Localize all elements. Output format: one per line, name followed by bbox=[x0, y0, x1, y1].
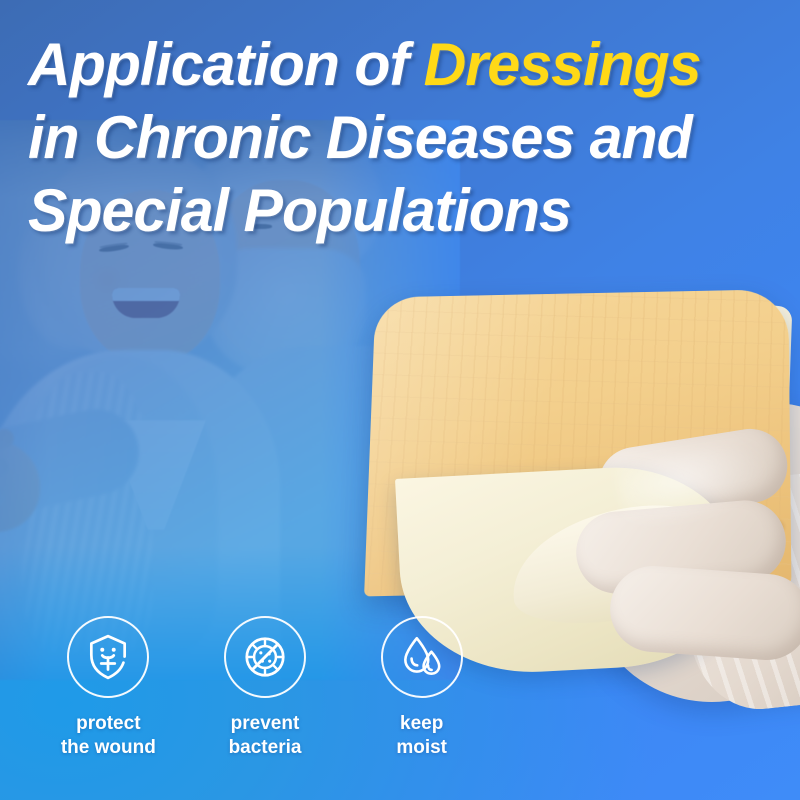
title-line-2: in Chronic Diseases and bbox=[28, 101, 777, 174]
feature-label-line-1: keep bbox=[396, 712, 447, 736]
feature-icon-circle bbox=[381, 616, 463, 698]
feature-item-prevent-bacteria: prevent bacteria bbox=[187, 616, 344, 776]
water-drops-icon bbox=[397, 632, 447, 682]
feature-label-line-1: protect bbox=[61, 712, 156, 736]
title-line-1-plain: Application of bbox=[28, 31, 424, 98]
no-bacteria-icon bbox=[240, 632, 290, 682]
title-line-3: Special Populations bbox=[28, 174, 777, 247]
feature-label-line-1: prevent bbox=[229, 712, 302, 736]
feature-label: protect the wound bbox=[61, 712, 156, 760]
feature-label: keep moist bbox=[396, 712, 447, 760]
page-title: Application of Dressings in Chronic Dise… bbox=[28, 28, 788, 247]
poster-canvas: Application of Dressings in Chronic Dise… bbox=[0, 0, 800, 800]
feature-list: protect the wound bbox=[30, 616, 500, 776]
feature-item-protect-the-wound: protect the wound bbox=[30, 616, 187, 776]
feature-label-line-2: the wound bbox=[61, 736, 156, 760]
feature-label-line-2: moist bbox=[396, 736, 447, 760]
shield-smiley-plus-icon bbox=[83, 632, 133, 682]
feature-icon-circle bbox=[67, 616, 149, 698]
title-line-1: Application of Dressings bbox=[28, 28, 777, 101]
feature-label: prevent bacteria bbox=[229, 712, 302, 760]
feature-icon-circle bbox=[224, 616, 306, 698]
glove-thumb bbox=[607, 563, 800, 663]
feature-label-line-2: bacteria bbox=[229, 736, 302, 760]
title-highlight-dressings: Dressings bbox=[424, 31, 701, 98]
feature-item-keep-moist: keep moist bbox=[343, 616, 500, 776]
